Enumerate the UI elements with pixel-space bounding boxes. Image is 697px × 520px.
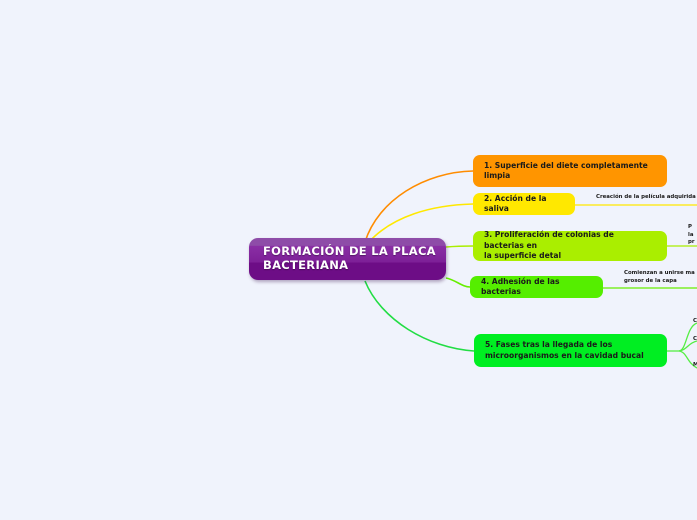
branch-node-2[interactable]: 2. Acción de la saliva xyxy=(473,193,575,215)
sub-label-pelicula-adquirida[interactable]: Creación de la película adquirida xyxy=(596,194,697,202)
branch-node-3[interactable]: 3. Proliferación de colonias de bacteria… xyxy=(473,231,667,261)
branch-node-5[interactable]: 5. Fases tras la llegada de los microorg… xyxy=(474,334,667,367)
leaf-label-b[interactable]: C xyxy=(693,336,697,344)
branch-node-1-label: 1. Superficie del diete completamente li… xyxy=(484,161,648,182)
root-node-label: FORMACIÓN DE LA PLACA BACTERIANA xyxy=(263,244,446,272)
leaf-label-c[interactable]: M xyxy=(693,362,697,370)
leaf-label-a[interactable]: C xyxy=(693,318,697,326)
sub-label-proliferacion-detail[interactable]: P la pr xyxy=(688,224,697,247)
branch-node-5-label: 5. Fases tras la llegada de los microorg… xyxy=(485,340,644,361)
connector-branch-4 xyxy=(446,278,470,287)
connector-branch-1 xyxy=(365,171,473,242)
connector-branch-5 xyxy=(365,281,474,351)
branch-node-4-label: 4. Adhesión de las bacterias xyxy=(481,277,592,298)
connector-branch-3 xyxy=(446,246,473,247)
mindmap-canvas[interactable]: FORMACIÓN DE LA PLACA BACTERIANA 1. Supe… xyxy=(0,0,697,520)
branch-node-1[interactable]: 1. Superficie del diete completamente li… xyxy=(473,155,667,187)
branch-node-4[interactable]: 4. Adhesión de las bacterias xyxy=(470,276,603,298)
sub-label-comienzan-a-unirse[interactable]: Comienzan a unirse ma grosor de la capa xyxy=(624,270,697,285)
root-node[interactable]: FORMACIÓN DE LA PLACA BACTERIANA xyxy=(249,238,446,280)
branch-node-2-label: 2. Acción de la saliva xyxy=(484,194,564,215)
branch-node-3-label: 3. Proliferación de colonias de bacteria… xyxy=(484,230,656,262)
